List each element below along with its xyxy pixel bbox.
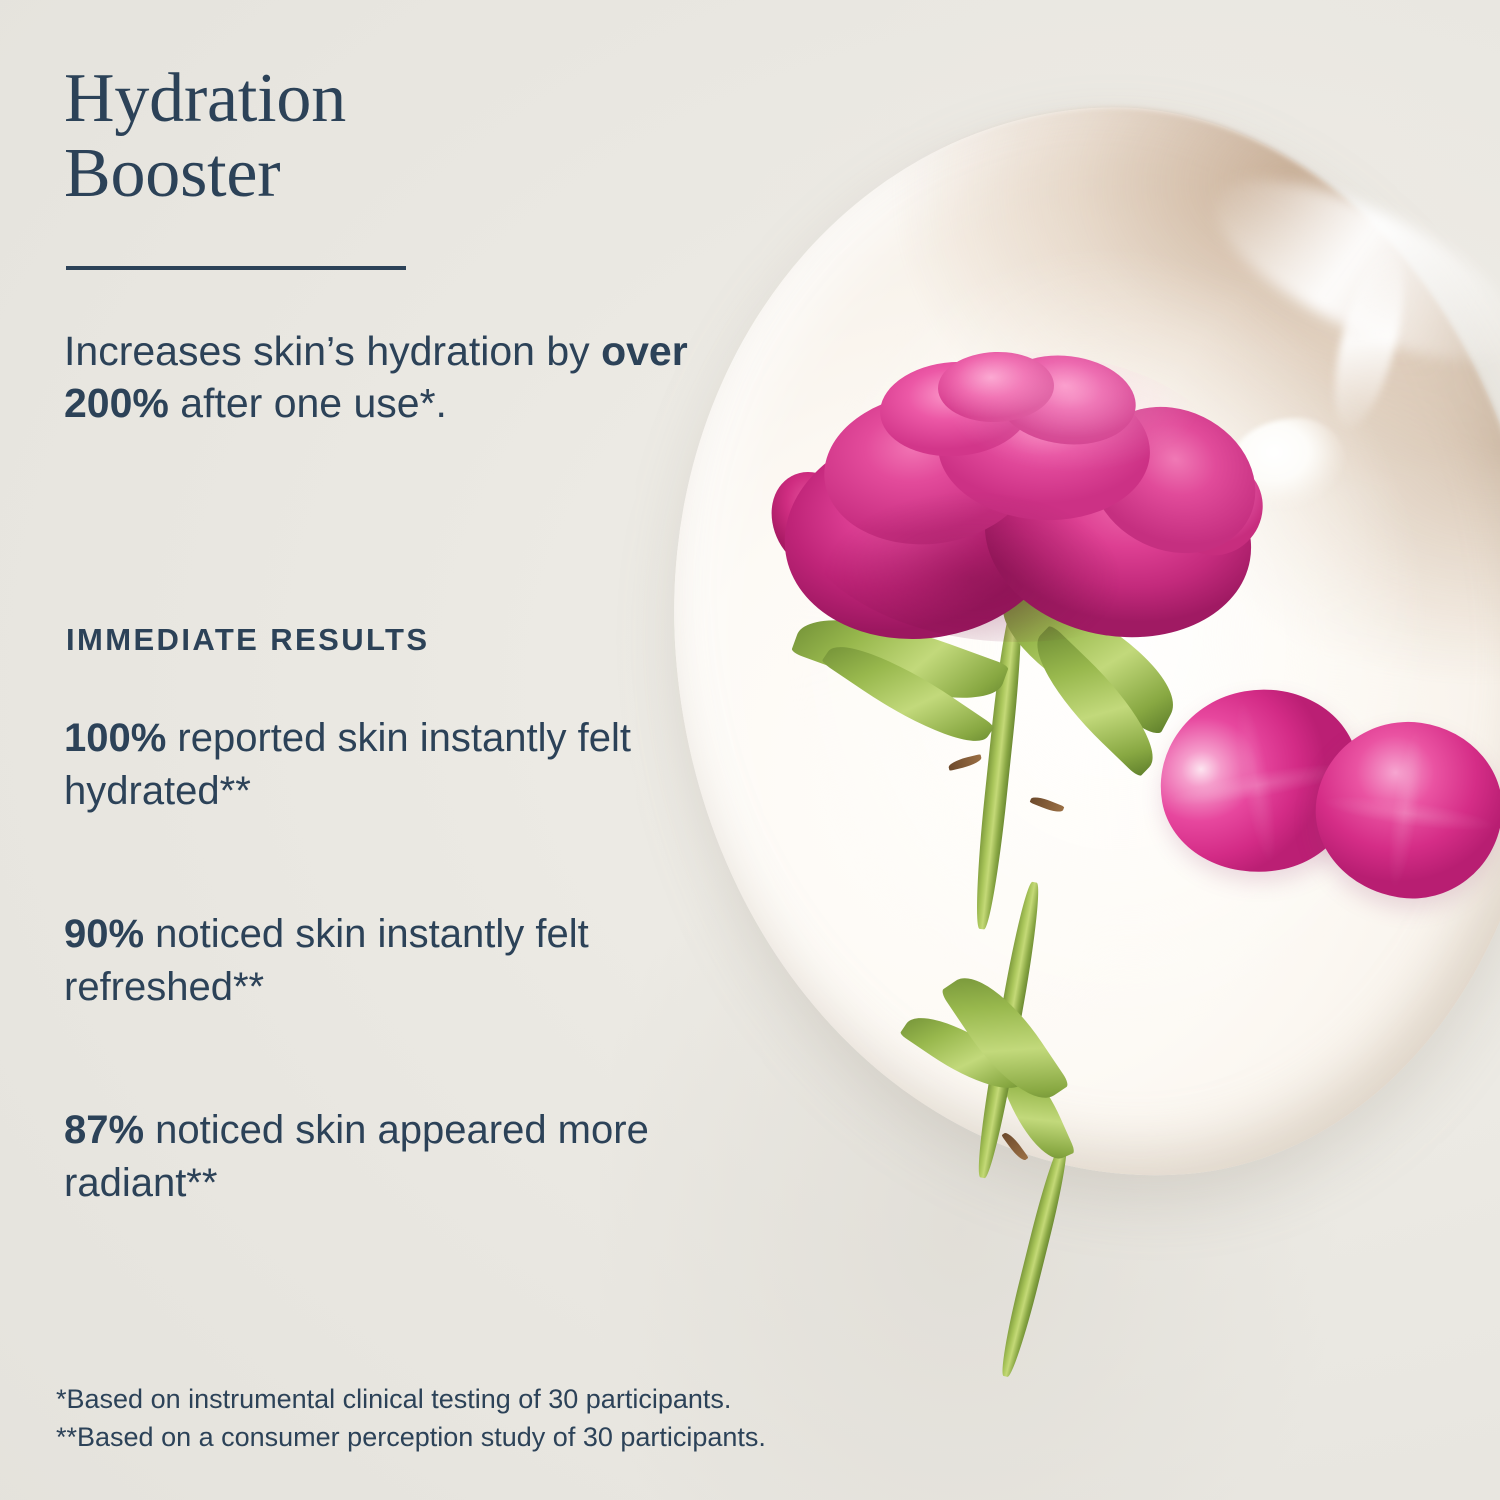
footnote-double-asterisk: **Based on a consumer perception study o… bbox=[56, 1418, 766, 1456]
footnotes: *Based on instrumental clinical testing … bbox=[56, 1380, 766, 1457]
stat-item: 100% reported skin instantly felt hydrat… bbox=[64, 712, 764, 818]
page-title: Hydration Booster bbox=[64, 62, 584, 212]
stat-text: noticed skin appeared more radiant** bbox=[64, 1108, 649, 1205]
stat-value: 100% bbox=[64, 716, 166, 760]
stat-item: 87% noticed skin appeared more radiant** bbox=[64, 1104, 764, 1210]
hero-claim-part-2: after one use*. bbox=[169, 380, 447, 426]
stat-value: 87% bbox=[64, 1108, 144, 1152]
product-benefit-card: Hydration Booster Increases skin’s hydra… bbox=[0, 0, 1500, 1500]
rose-bloom bbox=[788, 352, 1248, 642]
hero-claim: Increases skin’s hydration by over 200% … bbox=[64, 325, 784, 430]
title-divider bbox=[66, 266, 406, 270]
copy-column: Hydration Booster Increases skin’s hydra… bbox=[0, 0, 790, 1500]
footnote-single-asterisk: *Based on instrumental clinical testing … bbox=[56, 1380, 766, 1418]
stat-item: 90% noticed skin instantly felt refreshe… bbox=[64, 908, 764, 1014]
results-section-heading: IMMEDIATE RESULTS bbox=[66, 622, 429, 658]
title-line-2: Booster bbox=[64, 135, 280, 212]
title-line-1: Hydration bbox=[64, 60, 346, 137]
stat-value: 90% bbox=[64, 912, 144, 956]
hero-claim-part-1: Increases skin’s hydration by bbox=[64, 328, 601, 374]
